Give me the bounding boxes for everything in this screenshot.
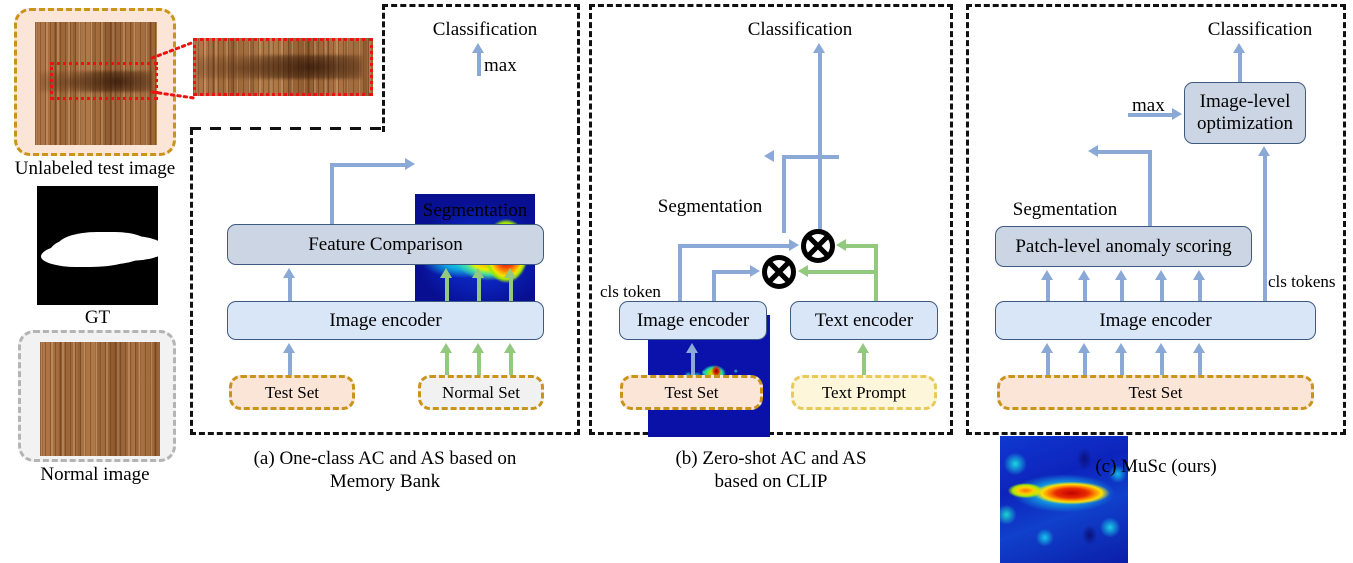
panel-a-green-arrow-5-shaft <box>477 352 481 375</box>
panel-b-cls-token-riser <box>678 244 682 309</box>
panel-a-green-arrow-3-head <box>504 268 516 278</box>
panel-b-frame <box>589 4 953 435</box>
panel-c-enc-arrow-5-head <box>1193 270 1205 280</box>
panel-a-seg-arrow-head <box>405 158 415 170</box>
gt-mask-blob <box>50 236 144 265</box>
panel-c-test-set-pill[interactable]: Test Set <box>997 375 1314 410</box>
panel-b-classification-label: Classification <box>700 18 900 42</box>
panel-b-multiply-operator-upper <box>801 229 835 263</box>
panel-a-green-arrow-4-shaft <box>445 352 449 375</box>
panel-c-patch-level-scoring-box[interactable]: Patch-level anomaly scoring <box>995 226 1252 267</box>
panel-b-text-encoder-box[interactable]: Text encoder <box>790 301 938 340</box>
panel-c-caption: (c) MuSc (ours) <box>966 455 1346 478</box>
panel-a-classification-label: Classification <box>400 18 570 42</box>
normal-image-caption: Normal image <box>0 464 190 486</box>
panel-c-max-arrow-shaft <box>1128 113 1176 117</box>
panel-a-green-arrow-4-head <box>440 343 452 353</box>
panel-b-green-lower-arrow-head <box>798 265 808 277</box>
panel-c-feedback-elbow-vertical <box>1148 150 1152 228</box>
panel-b-green-to-lower-otimes <box>808 270 878 274</box>
panel-c-segmentation-label: Segmentation <box>985 199 1145 221</box>
panel-b-arrow-test-to-enc-head <box>686 343 698 353</box>
panel-c-enc-arrow-5-shaft <box>1198 279 1202 301</box>
unlabeled-test-image-caption: Unlabeled test image <box>0 158 190 180</box>
panel-c-max-arrow-head <box>1172 108 1182 120</box>
panel-a-test-set-pill[interactable]: Test Set <box>229 375 355 410</box>
panel-a-green-arrow-3-shaft <box>509 277 513 301</box>
panel-a-green-arrow-6-head <box>504 343 516 353</box>
panel-a-arrow-enc-to-fc-head <box>283 268 295 278</box>
panel-c-cls-tokens-arrow-head <box>1258 146 1270 156</box>
panel-a-seg-elbow-vertical <box>330 163 334 227</box>
panel-b-cls-token-horizontal <box>678 244 760 248</box>
panel-b-multiply-operator-lower <box>762 255 796 289</box>
panel-b-arrow-prompt-to-enc-shaft <box>862 352 866 375</box>
panel-b-classification-arrow-shaft <box>818 52 822 232</box>
panel-b-caption-line1: (b) Zero-shot AC and AS <box>589 447 953 470</box>
panel-c-classification-arrow-shaft <box>1238 52 1242 82</box>
panel-b-segmentation-label: Segmentation <box>630 196 790 218</box>
panel-b-arrow-test-to-enc-shaft <box>691 352 695 375</box>
panel-b-green-riser <box>874 244 878 309</box>
panel-c-enc-arrow-3-shaft <box>1120 279 1124 301</box>
panel-a-green-arrow-2-shaft <box>477 277 481 301</box>
panel-c-enc-arrow-4-head <box>1155 270 1167 280</box>
panel-b-green-to-upper-otimes <box>846 244 878 248</box>
panel-c-ilo-line1: Image-level <box>1200 91 1291 113</box>
panel-a-normal-set-pill[interactable]: Normal Set <box>418 375 544 410</box>
panel-a-feature-comparison-box[interactable]: Feature Comparison <box>227 224 544 265</box>
panel-c-feedback-arrow-head <box>1088 145 1098 157</box>
panel-c-test-arrow-1-shaft <box>1046 352 1050 375</box>
normal-image-card <box>18 330 176 462</box>
normal-image-thumbnail <box>40 342 160 456</box>
panel-a-max-arrow-head <box>472 43 484 53</box>
panel-c-image-encoder-box[interactable]: Image encoder <box>995 301 1316 340</box>
panel-a-seg-elbow-horizontal <box>330 163 406 167</box>
panel-c-enc-arrow-2-head <box>1078 270 1090 280</box>
panel-a-max-arrow-shaft <box>477 51 481 76</box>
panel-a-green-arrow-5-head <box>472 343 484 353</box>
panel-a-green-arrow-6-shaft <box>509 352 513 375</box>
panel-a-green-arrow-1-shaft <box>445 277 449 301</box>
panel-b-caption-line2: based on CLIP <box>589 470 953 493</box>
panel-c-classification-arrow-head <box>1233 43 1245 53</box>
gt-mask-image <box>37 186 158 305</box>
panel-b-test-set-pill[interactable]: Test Set <box>620 375 763 410</box>
panel-c-ilo-line2: optimization <box>1197 113 1293 135</box>
panel-c-test-arrow-5-shaft <box>1198 352 1202 375</box>
panel-b-cls-token-label: cls token <box>600 282 661 302</box>
panel-b-text-prompt-pill[interactable]: Text Prompt <box>791 375 937 410</box>
panel-b-seg-arrow-shaft <box>782 155 839 159</box>
panel-a-image-encoder-box[interactable]: Image encoder <box>227 301 544 340</box>
crop-highlight-box <box>50 62 158 100</box>
panel-c-enc-arrow-1-shaft <box>1046 279 1050 301</box>
panel-c-test-arrow-4-head <box>1155 343 1167 353</box>
panel-b-blue-into-upper-otimes-head <box>789 239 799 251</box>
panel-c-classification-label: Classification <box>1160 18 1353 42</box>
panel-c-test-arrow-2-shaft <box>1083 352 1087 375</box>
panel-c-test-arrow-3-shaft <box>1120 352 1124 375</box>
panel-c-test-arrow-1-head <box>1041 343 1053 353</box>
panel-a-max-label: max <box>484 55 517 77</box>
panel-b-blue-into-lower-otimes-head <box>750 265 760 277</box>
panel-c-enc-arrow-1-head <box>1041 270 1053 280</box>
panel-a-segmentation-label: Segmentation <box>405 200 545 222</box>
panel-b-green-upper-arrow-head <box>836 239 846 251</box>
panel-b-classification-arrow-head <box>813 43 825 53</box>
panel-a-arrow-test-to-enc-head <box>283 343 295 353</box>
panel-c-image-level-optimization-box[interactable]: Image-level optimization <box>1184 82 1306 144</box>
panel-a-green-arrow-2-head <box>472 268 484 278</box>
panel-c-feedback-elbow-horizontal <box>1098 150 1152 154</box>
panel-c-test-arrow-5-head <box>1193 343 1205 353</box>
gt-caption: GT <box>37 307 158 329</box>
panel-b-image-encoder-box[interactable]: Image encoder <box>619 301 767 340</box>
panel-c-test-arrow-4-shaft <box>1160 352 1164 375</box>
panel-a-arrow-enc-to-fc-shaft <box>288 277 292 301</box>
panel-c-cls-tokens-label: cls tokens <box>1268 272 1336 292</box>
panel-c-test-arrow-3-head <box>1115 343 1127 353</box>
panel-b-blue-into-lower-otimes-shaft <box>712 270 754 274</box>
panel-b-arrow-prompt-to-enc-head <box>857 343 869 353</box>
panel-c-enc-arrow-4-shaft <box>1160 279 1164 301</box>
crop-connector-lines <box>150 40 200 102</box>
panel-a-arrow-test-to-enc-shaft <box>288 352 292 375</box>
panel-a-caption-line1: (a) One-class AC and AS based on <box>190 447 580 470</box>
zoomed-crop-border <box>193 38 373 96</box>
panel-b-seg-arrow-head <box>764 150 774 162</box>
panel-a-green-arrow-1-head <box>440 268 452 278</box>
panel-b-seg-elbow-vertical <box>782 155 786 233</box>
panel-b-blue-into-upper-otimes-shaft <box>756 244 792 248</box>
panel-c-test-arrow-2-head <box>1078 343 1090 353</box>
panel-c-enc-arrow-3-head <box>1115 270 1127 280</box>
panel-c-enc-arrow-2-shaft <box>1083 279 1087 301</box>
panel-c-cls-tokens-arrow-shaft <box>1263 155 1267 302</box>
panel-a-caption-line2: Memory Bank <box>190 470 580 493</box>
zoomed-crop-strip <box>193 38 373 96</box>
panel-a-frame-top-left-seg <box>190 127 385 130</box>
